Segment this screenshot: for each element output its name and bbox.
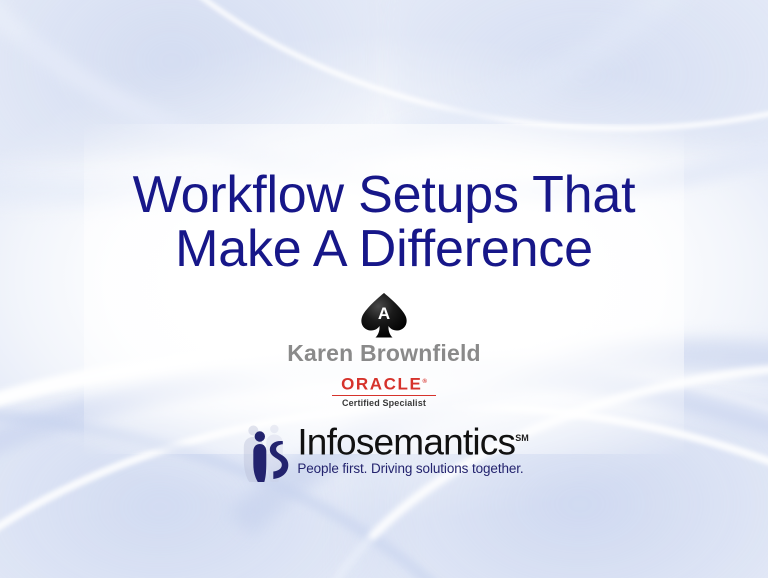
oracle-trademark-symbol: ®: [422, 379, 426, 385]
infosemantics-wordmark: InfosemanticsSM: [297, 420, 528, 460]
infosemantics-text-block: InfosemanticsSM People first. Driving so…: [297, 418, 528, 476]
presentation-title-slide: Workflow Setups That Make A Difference A…: [0, 0, 768, 578]
service-mark-symbol: SM: [515, 433, 529, 443]
oracle-certification-label: Certified Specialist: [332, 398, 436, 408]
slide-title-line-1: Workflow Setups That: [0, 168, 768, 222]
speaker-name: Karen Brownfield: [0, 340, 768, 367]
slide-title: Workflow Setups That Make A Difference: [0, 168, 768, 276]
oracle-brand-wordmark: ORACLE®: [332, 374, 436, 393]
oracle-ace-spade-icon: A: [357, 291, 411, 341]
slide-title-line-2: Make A Difference: [0, 222, 768, 276]
infosemantics-logo: InfosemanticsSM People first. Driving so…: [239, 418, 528, 482]
svg-text:A: A: [378, 304, 390, 323]
oracle-brand-text: ORACLE: [341, 375, 422, 394]
infosemantics-tagline: People first. Driving solutions together…: [297, 461, 523, 476]
slide-content: Workflow Setups That Make A Difference A…: [0, 0, 768, 578]
oracle-certified-specialist-badge: ORACLE® Certified Specialist: [332, 374, 436, 408]
oracle-badge-divider: [332, 395, 436, 397]
infosemantics-name-text: Infosemantics: [297, 421, 515, 462]
infosemantics-is-figure-icon: [239, 420, 291, 482]
